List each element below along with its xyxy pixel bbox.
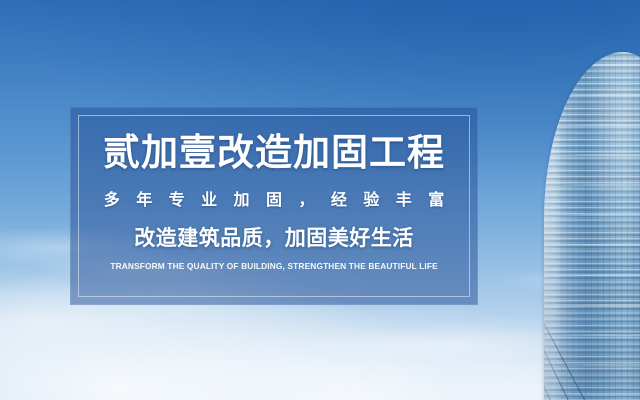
panel-content: 贰加壹改造加固工程 多 年 专 业 加 固 ， 经 验 丰 富 改造建筑品质，加…	[70, 107, 478, 305]
skyscraper-photo	[510, 0, 640, 400]
page-title: 贰加壹改造加固工程	[103, 133, 445, 172]
curved-glass-tower-icon	[544, 52, 640, 400]
hero-banner: 贰加壹改造加固工程 多 年 专 业 加 固 ， 经 验 丰 富 改造建筑品质，加…	[0, 0, 640, 400]
headline-panel: 贰加壹改造加固工程 多 年 专 业 加 固 ， 经 验 丰 富 改造建筑品质，加…	[70, 107, 478, 305]
subtitle-text: 多 年 专 业 加 固 ， 经 验 丰 富	[98, 186, 450, 210]
tower-shading	[544, 52, 640, 400]
slogan-english-text: TRANSFORM THE QUALITY OF BUILDING, STREN…	[110, 261, 437, 271]
slogan-text: 改造建筑品质，加固美好生活	[134, 222, 414, 252]
